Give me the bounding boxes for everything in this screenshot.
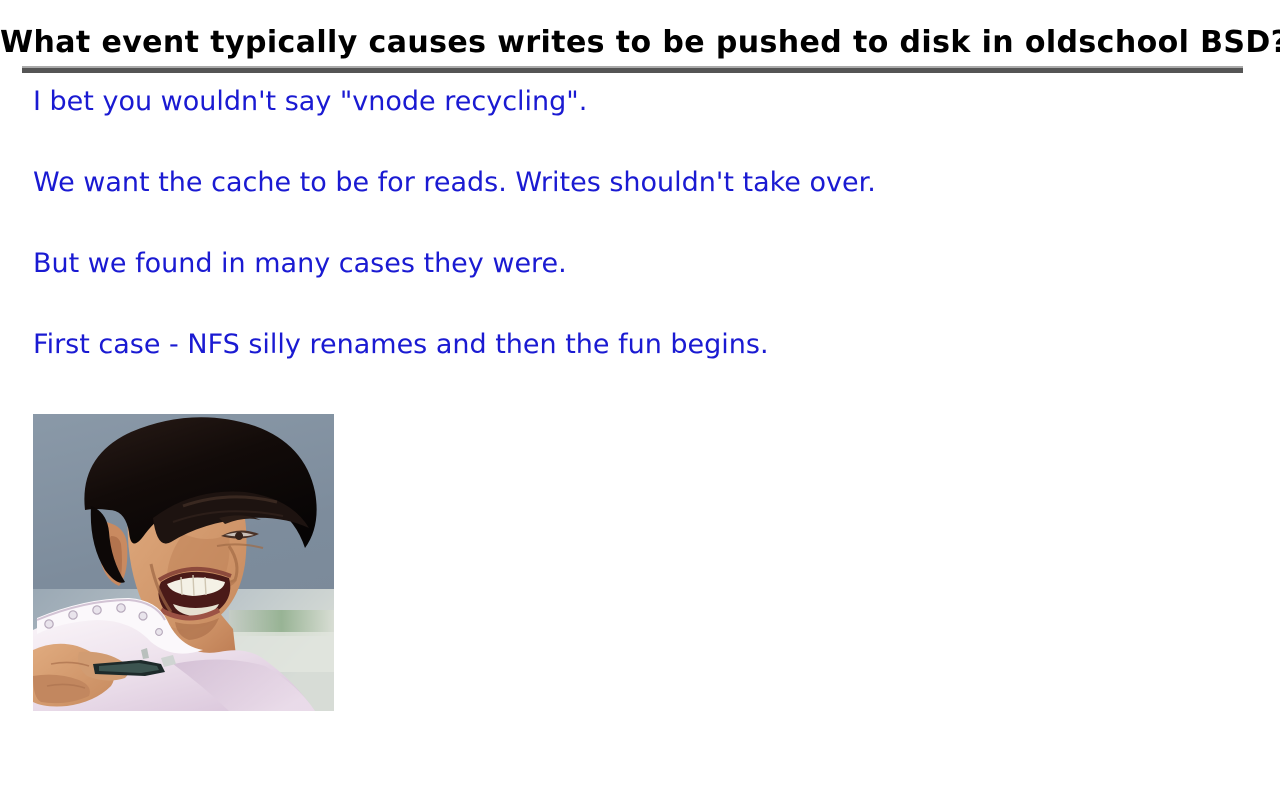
- slide: What event typically causes writes to be…: [0, 0, 1280, 800]
- slide-photo: [33, 414, 334, 711]
- photo-man-grimacing-holding-small-object: [33, 414, 334, 711]
- body-line-2: We want the cache to be for reads. Write…: [33, 165, 1233, 201]
- title-divider: [22, 66, 1243, 73]
- title-divider-shadow: [22, 68, 1243, 73]
- body-line-1: I bet you wouldn't say "vnode recycling"…: [33, 84, 1233, 120]
- body-line-4: First case - NFS silly renames and then …: [33, 327, 1233, 363]
- body-text-block: I bet you wouldn't say "vnode recycling"…: [33, 84, 1233, 408]
- page-title: What event typically causes writes to be…: [0, 24, 1280, 62]
- body-line-3: But we found in many cases they were.: [33, 246, 1233, 282]
